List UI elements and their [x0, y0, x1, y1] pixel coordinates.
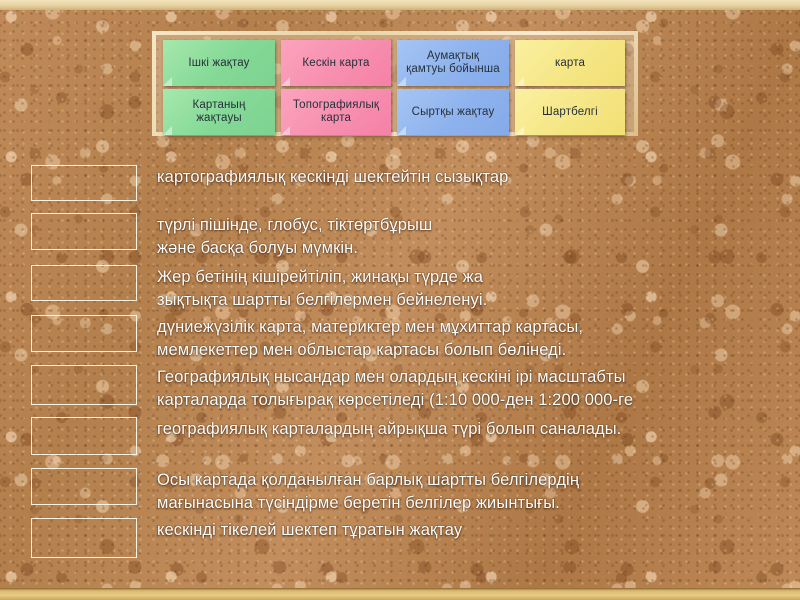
answer-text: картографиялық кескінді шектейтін сызықт…: [157, 165, 800, 189]
answer-row: Географиялық нысандар мен олардың кескін…: [0, 365, 800, 412]
bottom-trim: [0, 588, 800, 600]
drop-zone[interactable]: [31, 518, 137, 558]
drop-zone[interactable]: [31, 315, 137, 352]
cork-board: Ішкі жақтау Кескін карта Аумақтық қамтуы…: [0, 0, 800, 600]
answer-text: түрлі пішінде, глобус, тіктөртбұрыш және…: [157, 213, 800, 260]
tile-shartbelgi[interactable]: Шартбелгі: [515, 89, 625, 135]
answer-row: картографиялық кескінді шектейтін сызықт…: [0, 165, 800, 201]
answer-row: Жер бетінің кішірейтіліп, жинақы түрде ж…: [0, 265, 800, 312]
answer-text: Осы картада қолданылған барлық шартты бе…: [157, 468, 800, 515]
answer-row: географиялық карталардың айрықша түрі бо…: [0, 417, 800, 455]
tile-row-2: Картаның жақтауы Топографиялық карта Сыр…: [160, 89, 630, 135]
tile-row-1: Ішкі жақтау Кескін карта Аумақтық қамтуы…: [160, 40, 630, 86]
tile-ishki-zhaqtau[interactable]: Ішкі жақтау: [163, 40, 275, 86]
answer-row: Осы картада қолданылған барлық шартты бе…: [0, 468, 800, 515]
drop-zone[interactable]: [31, 417, 137, 455]
tile-topografiyalyq-karta[interactable]: Топографиялық карта: [281, 89, 391, 135]
answer-text: кескінді тікелей шектеп тұратын жақтау: [157, 518, 800, 542]
answer-text: географиялық карталардың айрықша түрі бо…: [157, 417, 800, 441]
answer-text: Жер бетінің кішірейтіліп, жинақы түрде ж…: [157, 265, 800, 312]
tile-kartanyn-zhaqtauy[interactable]: Картаның жақтауы: [163, 89, 275, 135]
answer-text: дүниежүзілік карта, материктер мен мұхит…: [157, 315, 800, 362]
drop-zone[interactable]: [31, 265, 137, 301]
top-trim: [0, 0, 800, 10]
answer-row: дүниежүзілік карта, материктер мен мұхит…: [0, 315, 800, 362]
drop-zone[interactable]: [31, 213, 137, 250]
tile-keskin-karta[interactable]: Кескін карта: [281, 40, 391, 86]
answer-row: кескінді тікелей шектеп тұратын жақтау: [0, 518, 800, 558]
drop-zone[interactable]: [31, 365, 137, 405]
drop-zone[interactable]: [31, 468, 137, 505]
tile-aumaqtyq-qamtuy[interactable]: Аумақтық қамтуы бойынша: [397, 40, 509, 86]
tile-karta[interactable]: карта: [515, 40, 625, 86]
tile-syrtqy-zhaqtau[interactable]: Сыртқы жақтау: [397, 89, 509, 135]
tile-tray: Ішкі жақтау Кескін карта Аумақтық қамтуы…: [152, 31, 638, 136]
drop-zone[interactable]: [31, 165, 137, 201]
answer-text: Географиялық нысандар мен олардың кескін…: [157, 365, 800, 412]
answer-row: түрлі пішінде, глобус, тіктөртбұрыш және…: [0, 213, 800, 260]
